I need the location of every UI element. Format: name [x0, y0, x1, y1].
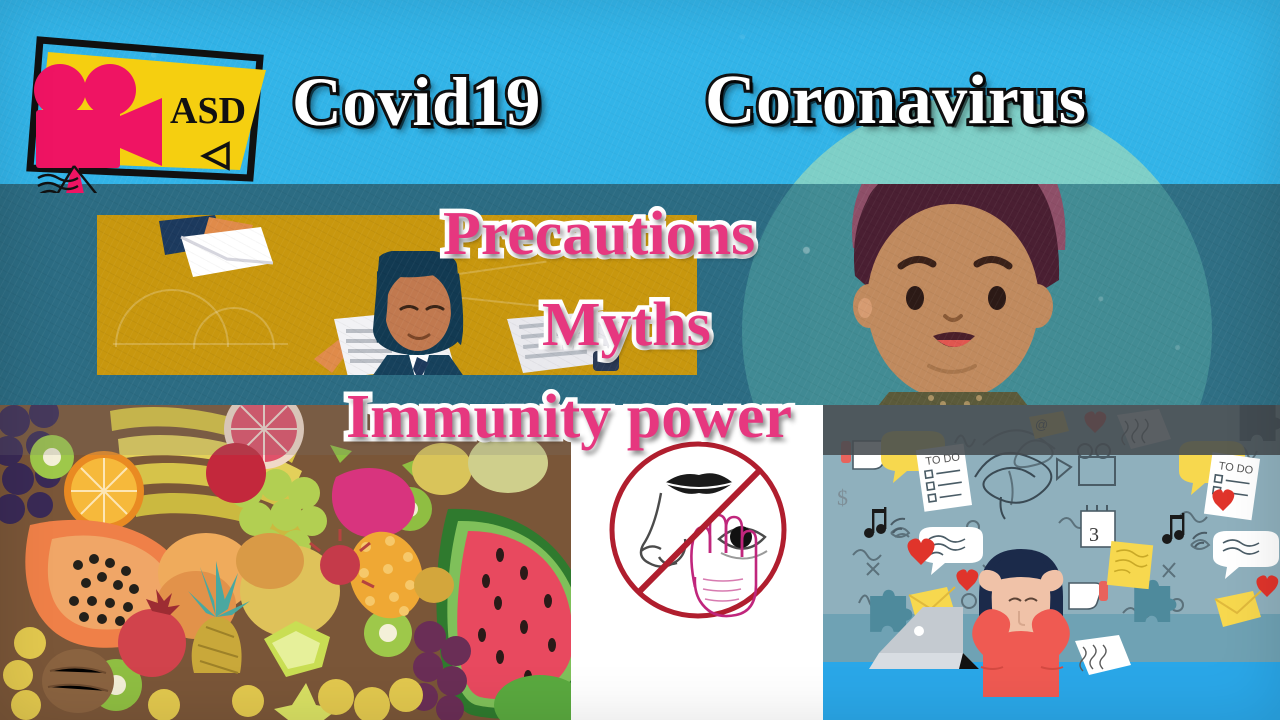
do-not-touch-face-icon: [571, 405, 823, 720]
logo-brand-text: ASD: [170, 90, 246, 132]
fruits-photo: [0, 405, 571, 720]
bottom-panels: TO DO TO DO: [0, 405, 1280, 720]
video-thumbnail: TO DO TO DO: [0, 0, 1280, 720]
channel-logo[interactable]: ASD: [22, 28, 282, 193]
no-face-touch-glyph: [603, 435, 793, 625]
title-coronavirus: Coronavirus: [705, 66, 1086, 136]
topic-immunity-power: Immunity power: [346, 386, 792, 448]
title-covid19: Covid19: [292, 68, 541, 137]
svg-text:$: $: [837, 485, 848, 510]
dark-overlay-strip: [823, 405, 1280, 455]
svg-text:3: 3: [1089, 524, 1099, 546]
topic-myths: Myths: [542, 294, 711, 356]
topic-precautions: Precautions: [443, 203, 755, 265]
